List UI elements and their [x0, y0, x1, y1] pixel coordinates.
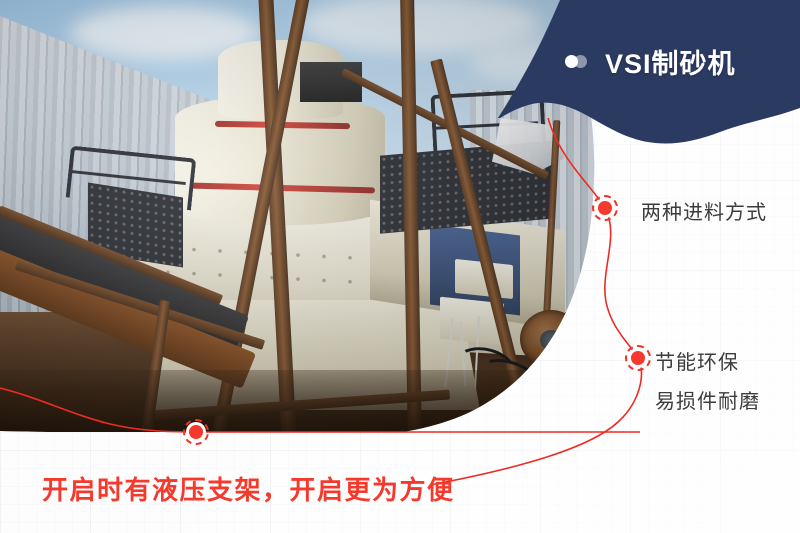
red-dot-marker-icon-feeding: [592, 195, 618, 221]
red-dot-marker-icon-caption: [183, 419, 209, 445]
feature-label-wear: 易损件耐磨: [655, 385, 760, 414]
red-dot-marker-icon-eco: [625, 345, 651, 371]
bottom-caption: 开启时有液压支架，开启更为方便: [42, 470, 455, 507]
machine-top-chute: [300, 62, 362, 102]
pill-bullet-icon: [565, 55, 591, 68]
vsi-machine-photo: [0, 0, 620, 432]
page-title: VSI制砂机: [605, 42, 736, 81]
header-title-row: VSI制砂机: [565, 42, 736, 81]
feature-label-eco: 节能环保: [655, 346, 739, 375]
feature-label-feeding: 两种进料方式: [641, 196, 767, 225]
infographic-canvas: VSI制砂机 两种进料方式 节能环保 易损件耐磨 开启时有液压支架，开启更为方便: [0, 0, 800, 533]
